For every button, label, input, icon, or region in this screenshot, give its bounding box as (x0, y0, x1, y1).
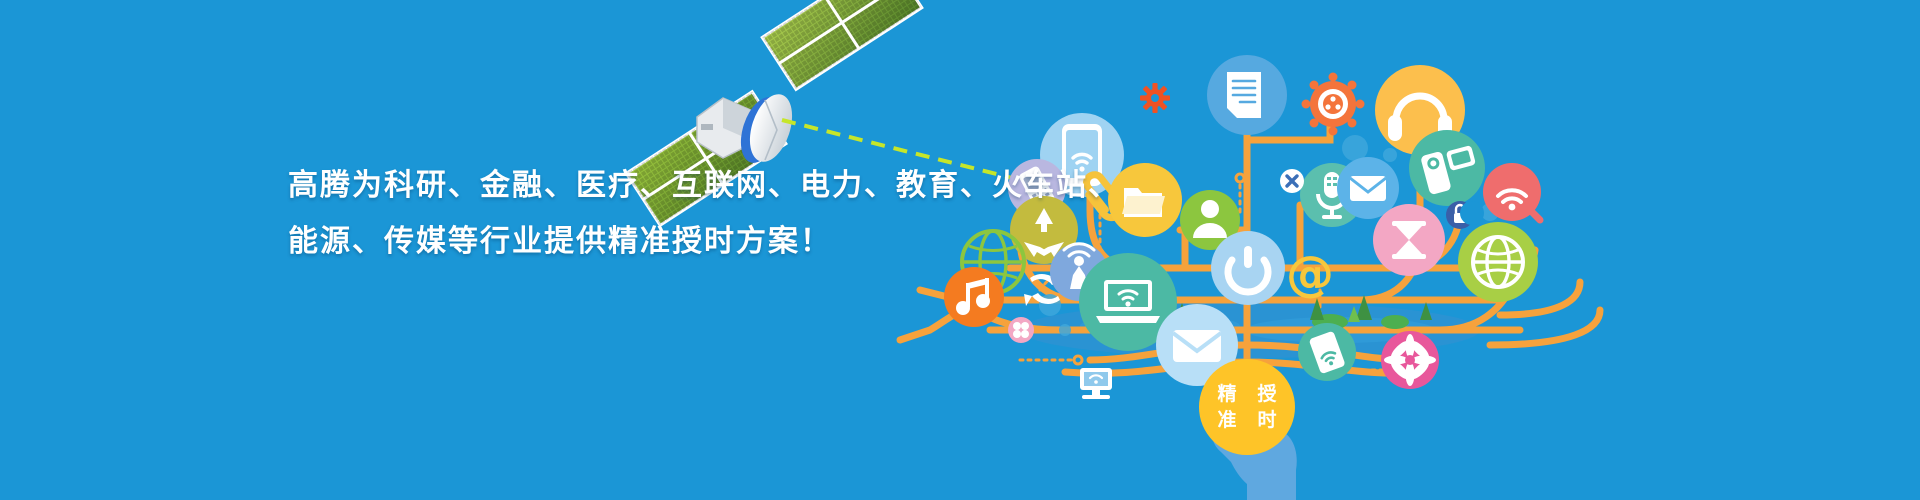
wifi-signal-icon[interactable] (1483, 163, 1541, 221)
camera-icon[interactable] (1409, 130, 1485, 206)
globe-grid-icon[interactable] (1458, 222, 1538, 302)
clover-icon[interactable] (1008, 317, 1034, 343)
background-fill (0, 0, 1920, 500)
flower-icon[interactable] (1381, 331, 1439, 389)
power-button-icon[interactable] (1211, 231, 1285, 305)
illustration-layer: @ (0, 0, 1920, 500)
document-icon[interactable] (1207, 55, 1287, 135)
gear-icon[interactable] (1140, 83, 1170, 113)
svg-text:@: @ (1286, 246, 1334, 302)
music-note-icon[interactable] (944, 267, 1004, 327)
folder-icon[interactable] (1108, 163, 1182, 237)
cta-circle[interactable] (1199, 359, 1295, 455)
at-globe-icon[interactable] (1460, 201, 1484, 225)
settings-wheel-icon[interactable] (1303, 74, 1363, 134)
hero-banner: @ (0, 0, 1920, 500)
smartphone-nfc-icon[interactable] (1298, 323, 1356, 381)
at-sign-icon[interactable]: @ (1286, 246, 1334, 302)
close-x-icon[interactable] (1280, 169, 1304, 193)
hourglass-icon[interactable] (1373, 204, 1445, 276)
